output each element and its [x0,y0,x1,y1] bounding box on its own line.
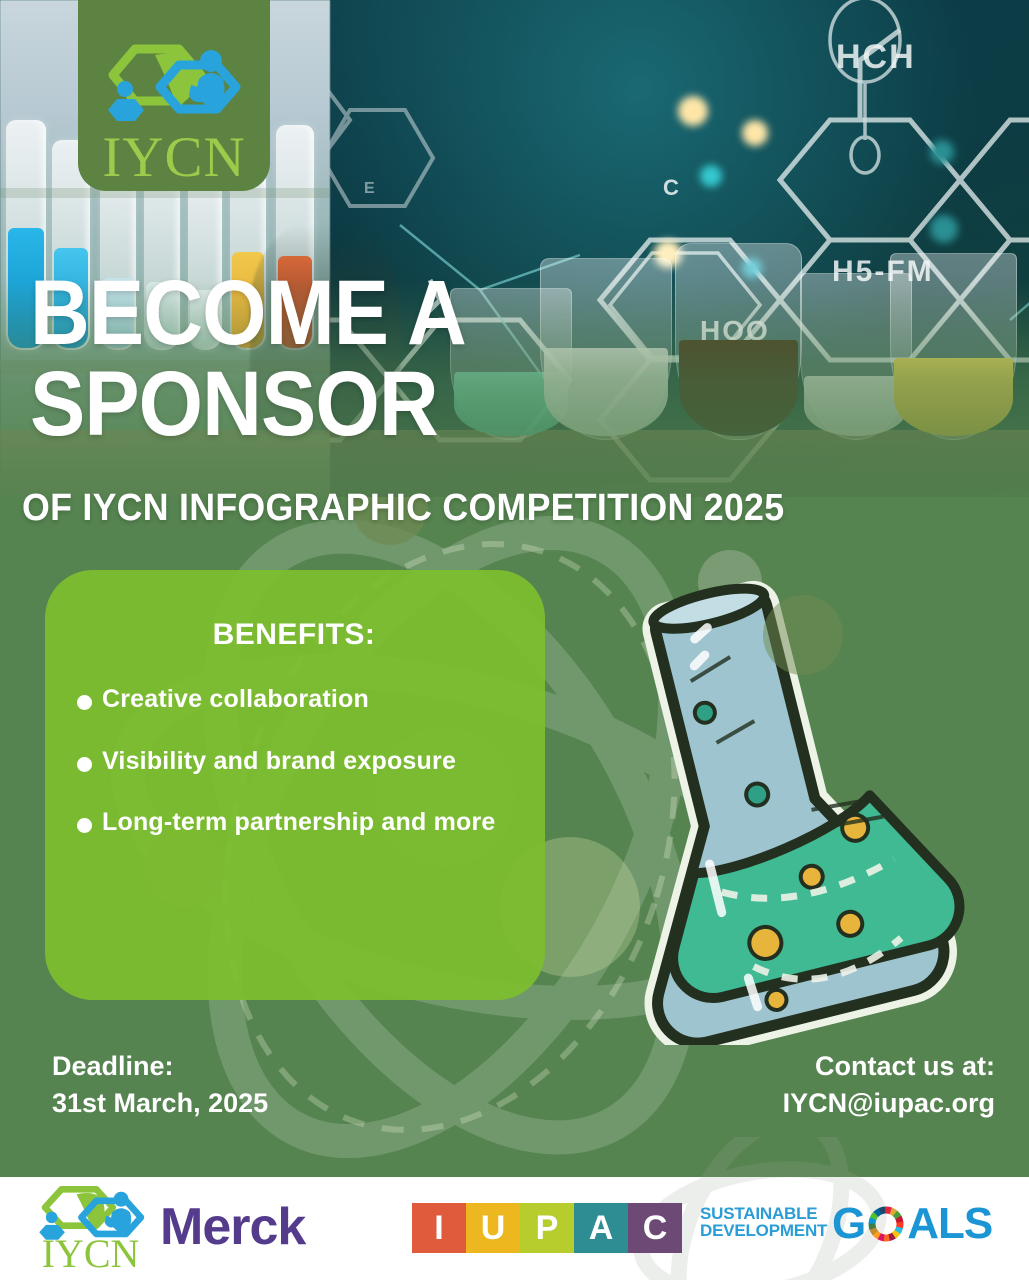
title-line-1: BECOME A [30,268,466,359]
poster-title: BECOME A SPONSOR [30,268,514,450]
benefits-content: BENEFITS: Creative collaboration Visibil… [45,570,545,1000]
glow-node [930,140,954,164]
bullet-icon [77,757,92,772]
person-head [200,50,222,72]
iupac-tile-a: A [574,1203,628,1253]
sdg-line-1: SUSTAINABLE [700,1205,827,1222]
glow-node [678,96,708,126]
sdg-logo: SUSTAINABLE DEVELOPMENT G [700,1199,1000,1257]
iycn-footer-wordmark: IYCN [28,1234,153,1274]
sdg-als-letters: ALS [907,1199,992,1248]
iupac-tile-c: C [628,1203,682,1253]
sdg-subtitle: SUSTAINABLE DEVELOPMENT [700,1205,827,1239]
bullet-icon [77,818,92,833]
iycn-logo-panel: IYCN [78,0,270,191]
benefit-label: Creative collaboration [102,686,369,714]
benefit-item: Creative collaboration [77,686,515,714]
sponsor-poster: HCH HOO H5-FM C H E [0,0,1029,1280]
benefit-label: Visibility and brand exposure [102,748,456,776]
merck-wordmark: Merck [160,1201,306,1253]
iupac-tile-p: P [520,1203,574,1253]
atom-node [763,595,843,675]
benefits-heading: BENEFITS: [73,618,515,652]
sdg-goals-text: G [832,1199,992,1249]
deadline-block: Deadline: 31st March, 2025 [52,1048,268,1123]
sdg-g-letter: G [832,1199,865,1248]
iycn-wordmark: IYCN [102,131,245,185]
glow-node [700,165,722,187]
bullet-icon [77,695,92,710]
glow-node [742,120,768,146]
iupac-logo: I U P A C [412,1203,682,1253]
footer-logo-bar: IYCN Merck I U P A C SUSTAINABLE DEVELOP… [0,1177,1029,1280]
benefit-item: Long-term partnership and more [77,809,515,837]
iupac-tile-u: U [466,1203,520,1253]
contact-email[interactable]: IYCN@iupac.org [783,1085,995,1122]
sdg-line-2: DEVELOPMENT [700,1222,827,1239]
poster-subtitle: OF IYCN INFOGRAPHIC COMPETITION 2025 [22,487,784,530]
chem-label-c: C [663,175,681,201]
deadline-value: 31st March, 2025 [52,1085,268,1122]
flask-illustration [545,545,1015,1045]
chem-label-hch: HCH [836,38,916,77]
sdg-wheel-icon [865,1203,907,1245]
benefit-item: Visibility and brand exposure [77,748,515,776]
merck-logo: Merck [160,1201,385,1253]
benefit-label: Long-term partnership and more [102,809,496,837]
deadline-label: Deadline: [52,1048,268,1085]
iycn-logo-icon [99,29,249,129]
title-line-2: SPONSOR [30,359,466,450]
contact-label: Contact us at: [783,1048,995,1085]
contact-block: Contact us at: IYCN@iupac.org [783,1048,995,1123]
chem-label-e: E [364,180,377,198]
footer-iycn-logo: IYCN [28,1181,153,1276]
iupac-tile-i: I [412,1203,466,1253]
